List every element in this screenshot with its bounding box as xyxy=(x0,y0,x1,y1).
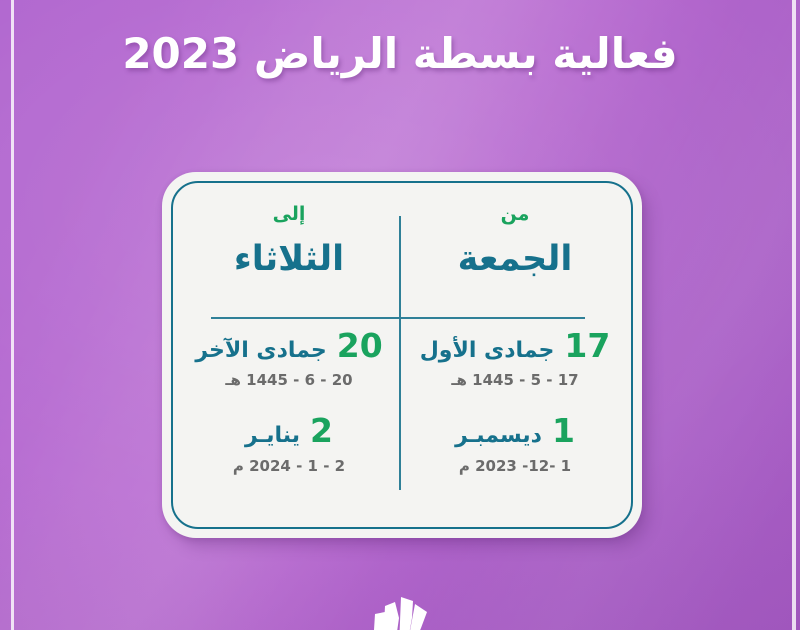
to-hijri-date: 20 جمادى الآخر xyxy=(178,328,400,364)
to-hijri-month: جمادى الآخر xyxy=(195,339,326,363)
to-gregorian-date: 2 ينايـر xyxy=(178,413,400,449)
to-weekday: الثلاثاء xyxy=(178,239,400,279)
to-column-header: إلى الثلاثاء xyxy=(178,202,400,279)
to-hijri-numeric: 20 - 6 - 1445 هـ xyxy=(178,371,400,389)
from-gregorian-month: ديسمبـر xyxy=(455,424,542,448)
to-hijri-day: 20 xyxy=(337,328,383,364)
horizontal-divider xyxy=(211,317,585,319)
from-gregorian-date: 1 ديسمبـر xyxy=(404,413,626,449)
left-edge-rule xyxy=(11,0,14,630)
to-gregorian-numeric: 2 - 1 - 2024 م xyxy=(178,457,400,475)
page-title: فعالية بسطة الرياض 2023 xyxy=(0,28,800,81)
from-gregorian-day: 1 xyxy=(552,413,575,449)
from-weekday: الجمعة xyxy=(404,239,626,279)
from-label: من xyxy=(404,202,626,227)
event-dates-card: من الجمعة 17 جمادى الأول 17 - 5 - 1445 ه… xyxy=(162,172,642,538)
to-column-dates: 20 جمادى الآخر 20 - 6 - 1445 هـ 2 ينايـر… xyxy=(178,328,400,475)
to-gregorian-month: ينايـر xyxy=(245,424,300,448)
from-hijri-numeric: 17 - 5 - 1445 هـ xyxy=(404,371,626,389)
from-column-dates: 17 جمادى الأول 17 - 5 - 1445 هـ 1 ديسمبـ… xyxy=(404,328,626,475)
poster-canvas: فعالية بسطة الرياض 2023 من الجمعة 17 جما… xyxy=(0,0,800,630)
from-hijri-date: 17 جمادى الأول xyxy=(404,328,626,364)
from-column-header: من الجمعة xyxy=(404,202,626,279)
right-edge-rule xyxy=(792,0,796,630)
to-label: إلى xyxy=(178,202,400,227)
palm-fronds-logo xyxy=(355,588,447,630)
from-gregorian-numeric: 1 -12- 2023 م xyxy=(404,457,626,475)
from-hijri-day: 17 xyxy=(564,328,610,364)
from-hijri-month: جمادى الأول xyxy=(420,339,555,363)
to-gregorian-day: 2 xyxy=(310,413,333,449)
from-column-spacer xyxy=(404,389,626,413)
to-column-spacer xyxy=(178,389,400,413)
